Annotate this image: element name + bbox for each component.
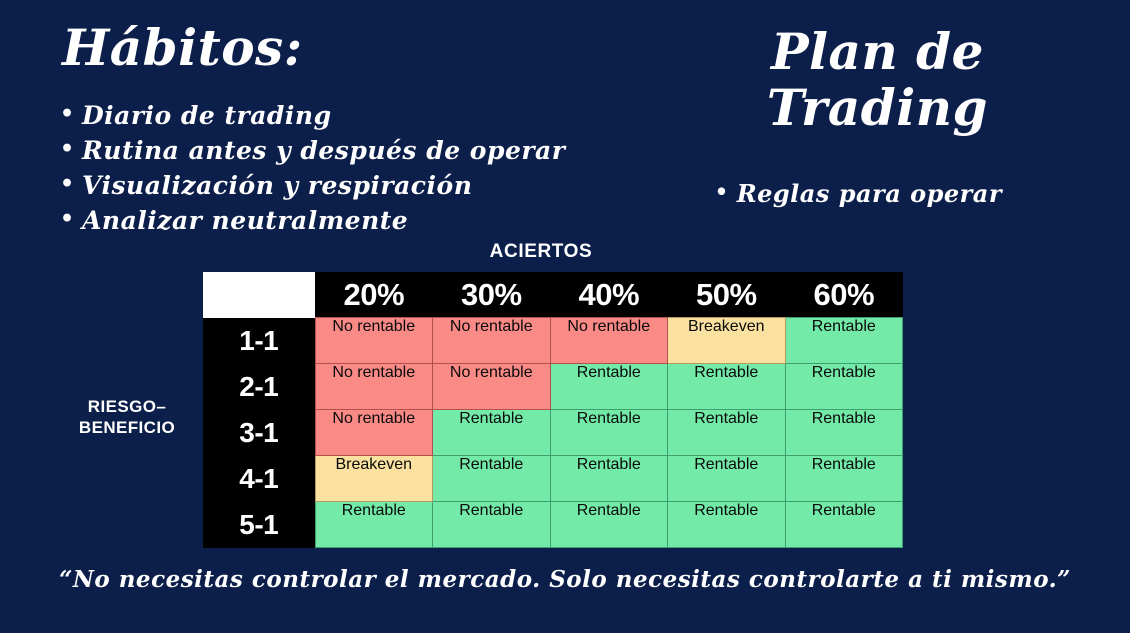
profitability-matrix: 20% 30% 40% 50% 60% 1-1 No rentable No r… xyxy=(203,272,903,548)
matrix-cell: Rentable xyxy=(433,502,551,548)
list-item: Analizar neutralmente xyxy=(60,203,700,238)
matrix-cell: No rentable xyxy=(550,318,668,364)
row-axis-label-line-1: RIESGO– xyxy=(56,396,198,417)
row-header: 1-1 xyxy=(203,318,315,364)
matrix-cell: Breakeven xyxy=(315,456,433,502)
matrix-cell: Rentable xyxy=(785,318,903,364)
habits-title: Hábitos: xyxy=(62,22,303,75)
habits-list: Diario de trading Rutina antes y después… xyxy=(60,98,700,238)
table-header-row: 20% 30% 40% 50% 60% xyxy=(203,272,903,318)
column-axis-label: ACIERTOS xyxy=(466,241,616,263)
row-header: 4-1 xyxy=(203,456,315,502)
plan-title-line-1: Plan de xyxy=(767,24,988,80)
matrix-cell: Rentable xyxy=(668,502,786,548)
matrix-cell: Rentable xyxy=(668,364,786,410)
closing-quote: “No necesitas controlar el mercado. Solo… xyxy=(0,566,1130,593)
matrix-cell: Rentable xyxy=(550,410,668,456)
slide-canvas: Hábitos: Diario de trading Rutina antes … xyxy=(0,0,1130,633)
table-row: 2-1 No rentable No rentable Rentable Ren… xyxy=(203,364,903,410)
plan-list: Reglas para operar xyxy=(715,178,1002,210)
table-row: 1-1 No rentable No rentable No rentable … xyxy=(203,318,903,364)
list-item: Reglas para operar xyxy=(715,178,1002,210)
row-axis-label-line-2: BENEFICIO xyxy=(56,417,198,438)
matrix-cell: Rentable xyxy=(785,456,903,502)
table-row: 4-1 Breakeven Rentable Rentable Rentable… xyxy=(203,456,903,502)
plan-title-line-2: Trading xyxy=(767,80,988,136)
list-item: Rutina antes y después de operar xyxy=(60,133,700,168)
matrix-cell: No rentable xyxy=(315,318,433,364)
list-item: Visualización y respiración xyxy=(60,168,700,203)
matrix-cell: Rentable xyxy=(433,456,551,502)
column-header: 40% xyxy=(550,272,668,318)
column-header: 20% xyxy=(315,272,433,318)
matrix-cell: Rentable xyxy=(550,502,668,548)
matrix-cell: Rentable xyxy=(550,456,668,502)
row-header: 5-1 xyxy=(203,502,315,548)
plan-title: Plan de Trading xyxy=(767,24,988,136)
column-header: 30% xyxy=(433,272,551,318)
row-header: 3-1 xyxy=(203,410,315,456)
matrix-cell: Breakeven xyxy=(668,318,786,364)
table-row: 5-1 Rentable Rentable Rentable Rentable … xyxy=(203,502,903,548)
matrix-cell: Rentable xyxy=(433,410,551,456)
matrix-cell: Rentable xyxy=(550,364,668,410)
table-row: 3-1 No rentable Rentable Rentable Rentab… xyxy=(203,410,903,456)
row-axis-label: RIESGO– BENEFICIO xyxy=(56,396,198,438)
matrix-cell: No rentable xyxy=(315,410,433,456)
matrix-cell: Rentable xyxy=(785,364,903,410)
matrix-cell: No rentable xyxy=(433,364,551,410)
matrix-cell: Rentable xyxy=(785,502,903,548)
matrix-cell: Rentable xyxy=(668,410,786,456)
matrix-cell: Rentable xyxy=(785,410,903,456)
column-header: 60% xyxy=(785,272,903,318)
matrix-cell: No rentable xyxy=(433,318,551,364)
list-item: Diario de trading xyxy=(60,98,700,133)
row-header: 2-1 xyxy=(203,364,315,410)
matrix-cell: Rentable xyxy=(315,502,433,548)
column-header: 50% xyxy=(668,272,786,318)
matrix-cell: Rentable xyxy=(668,456,786,502)
matrix-cell: No rentable xyxy=(315,364,433,410)
matrix-corner-cell xyxy=(203,272,315,318)
